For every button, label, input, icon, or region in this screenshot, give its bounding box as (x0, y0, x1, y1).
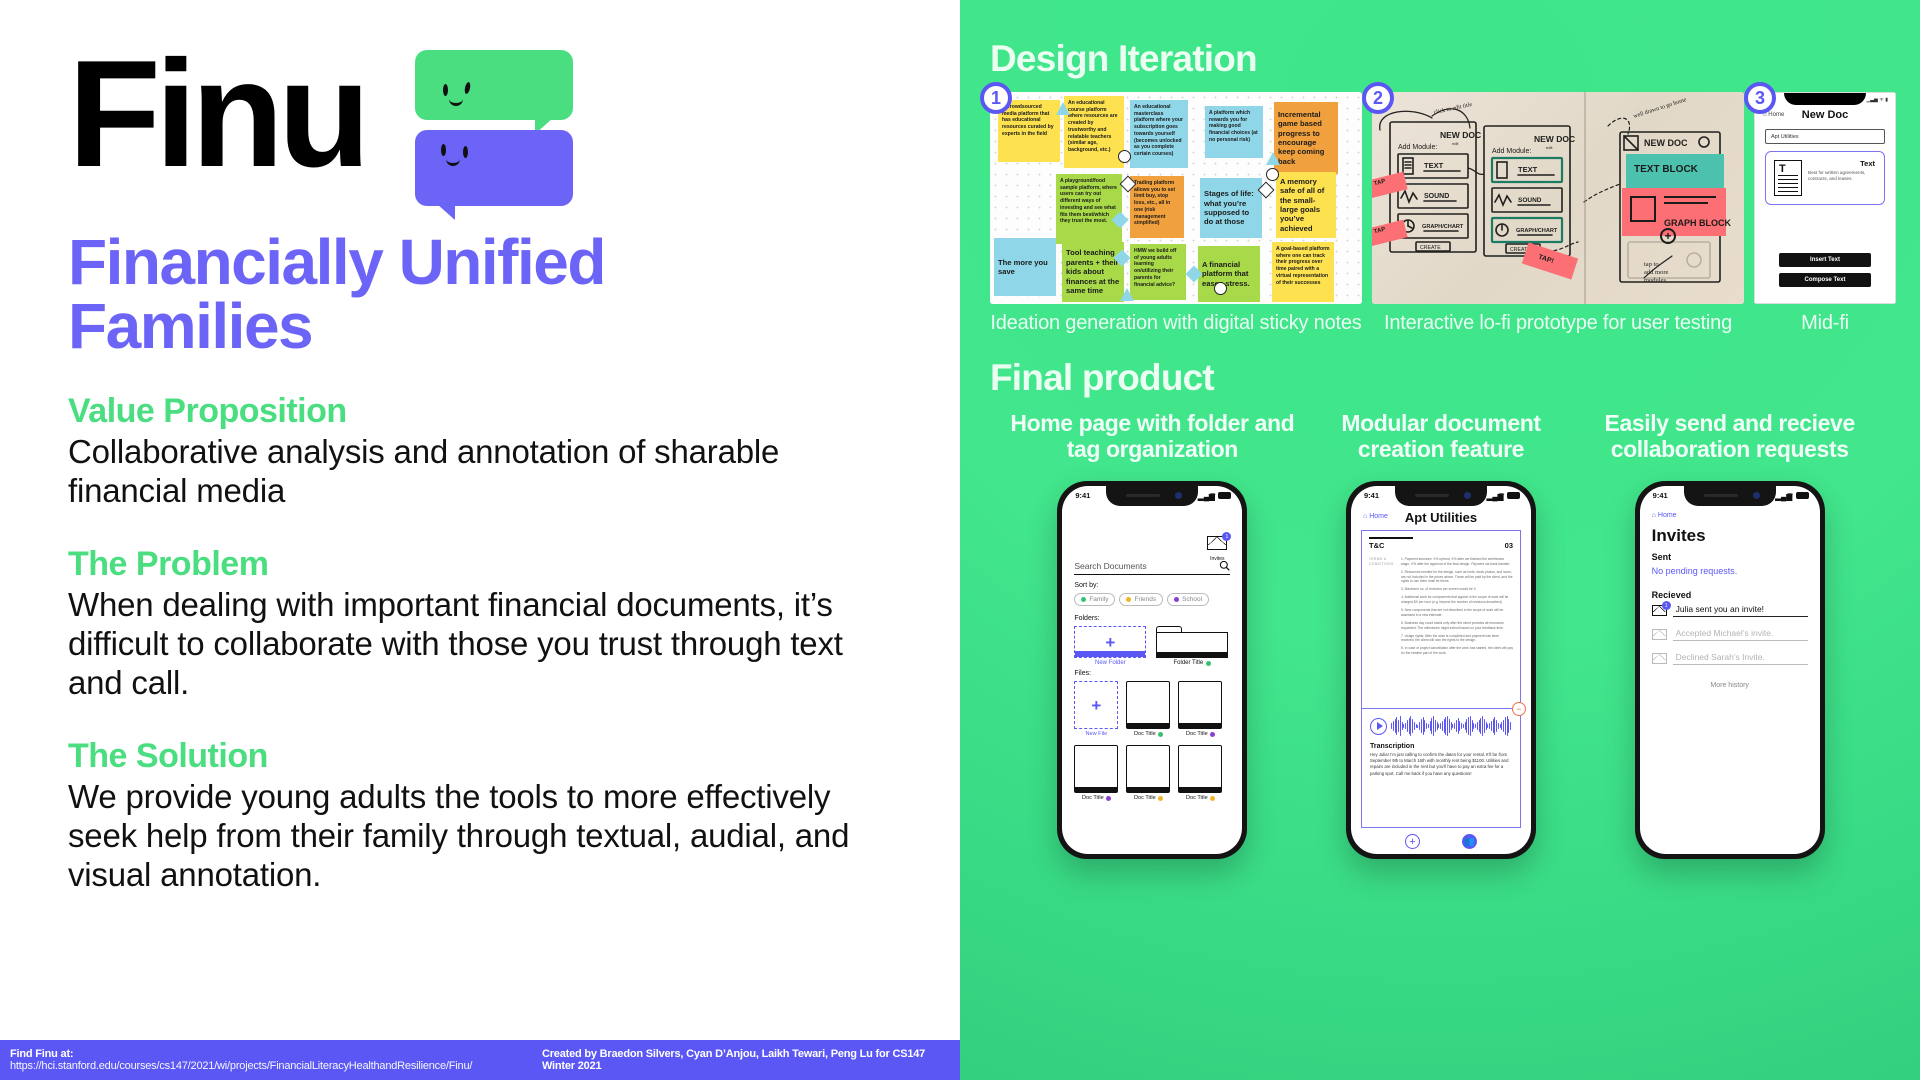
transcription-title: Transcription (1370, 743, 1512, 750)
doc-clause: 8. In case of project cancellation after… (1401, 646, 1513, 655)
status-right-icons: ▂▄▆ ᯤ (1487, 491, 1520, 500)
document-title: Apt Utilities (1351, 510, 1531, 525)
unread-badge: 1 (1662, 601, 1671, 610)
battery-icon (1507, 492, 1520, 499)
graph-block-lines-icon (1664, 196, 1716, 204)
photo-seam (1584, 92, 1586, 304)
phone-screen-home: 9:41 ▂▄▆ ᯤ 1 (1062, 486, 1242, 854)
phone-heading-3: Easily send and recieve collaboration re… (1585, 411, 1874, 467)
tag-label: Family (1089, 596, 1108, 603)
battery-icon (1218, 492, 1231, 499)
poster-root: Finu (0, 0, 1920, 1080)
tag-chip-friends[interactable]: Friends (1119, 593, 1163, 606)
add-module-button[interactable]: + (1405, 834, 1420, 849)
iteration-caption-3: Mid-fi (1754, 312, 1896, 335)
section-body: We provide young adults the tools to mor… (68, 778, 898, 895)
divider (1369, 537, 1413, 539)
svg-text:Add Module:: Add Module: (1492, 148, 1531, 155)
section-heading: Value Proposition (68, 392, 898, 431)
phone-heading-1: Home page with folder and tag organizati… (1008, 411, 1297, 467)
svg-text:edit: edit (1546, 145, 1553, 150)
tag-dot (1158, 732, 1163, 737)
svg-text:tap to: tap to (1644, 261, 1659, 268)
status-time: 9:41 (1364, 491, 1379, 500)
doc-clause: 3. Maximum no. of revisions per screen w… (1401, 587, 1513, 592)
logo-speech-bubbles-icon (415, 50, 585, 215)
wifi-icon: ᯤ (1787, 491, 1793, 500)
received-label: Recieved (1652, 590, 1692, 600)
status-time: 9:41 (1075, 491, 1090, 500)
iteration-item-3: 3 ▁▃▅ ᯤ ▮ ⌂ Home New Doc Apt Utilities T (1754, 92, 1896, 335)
search-icon (1219, 560, 1230, 571)
step-badge-2: 2 (1362, 82, 1394, 114)
invite-row[interactable]: 1 Julia sent you an invite! (1652, 604, 1808, 617)
tag-chip-family[interactable]: Family (1074, 593, 1115, 606)
transcription-body: Hey Julia! I’m just calling to confirm t… (1370, 752, 1512, 777)
footer-bar: Find Finu at: https://hci.stanford.edu/c… (0, 1040, 960, 1080)
sticky-note[interactable]: A financial platform that eases stress. (1198, 246, 1260, 302)
text-document-icon: T (1774, 160, 1802, 196)
footer-credit: Created by Braedon Silvers, Cyan D’Anjou… (542, 1048, 960, 1072)
status-icons: ▁▃▅ ᯤ ▮ (1866, 97, 1888, 103)
lofi-prototype-photo: NEW DOC edit NEW DOC edit Add Module: Ad… (1372, 92, 1744, 304)
file-title: Doc Title (1134, 795, 1156, 801)
signal-icon: ▂▄▆ (1775, 492, 1784, 499)
svg-text:add more: add more (1644, 269, 1668, 276)
tag-dot (1210, 732, 1215, 737)
file-tile[interactable] (1178, 681, 1222, 729)
doc-clauses: 1. Payment structure: X% upfront, X% aft… (1401, 557, 1513, 659)
midfi-shot[interactable]: ▁▃▅ ᯤ ▮ ⌂ Home New Doc Apt Utilities T T (1754, 92, 1896, 304)
phone-column-home: Home page with folder and tag organizati… (1008, 411, 1297, 859)
file-caption: Doc Title (1126, 731, 1170, 737)
svg-text:GRAPH/CHART: GRAPH/CHART (1516, 228, 1558, 234)
phone-notch (1684, 486, 1776, 506)
section-the-problem: The Problem When dealing with important … (68, 545, 898, 703)
wifi-icon: ᯤ (1498, 491, 1504, 500)
phone-screen-invites: 9:41 ▂▄▆ ᯤ ⌂Home Invites Sent No (1640, 486, 1820, 854)
section-body: Collaborative analysis and annotation of… (68, 433, 898, 511)
midfi-doc-name-input[interactable]: Apt Utilities (1765, 129, 1885, 144)
sort-by-label: Sort by: (1074, 582, 1098, 589)
status-right-icons: ▂▄▆ ᯤ (1198, 491, 1231, 500)
right-panel: Design Iteration 1 A crowdsourced media … (960, 0, 1920, 1080)
home-link[interactable]: ⌂Home (1652, 512, 1677, 519)
add-module-plus-icon: + (1660, 228, 1676, 244)
more-history-link[interactable]: More history (1640, 682, 1820, 689)
phone-heading-2: Modular document creation feature (1297, 411, 1586, 467)
sticky-note[interactable]: Stages of life: what you’re supposed to … (1200, 178, 1262, 238)
doc-section-header: T&C 03 (1369, 541, 1513, 550)
left-panel: Finu (0, 0, 960, 1080)
file-title: Doc Title (1186, 731, 1208, 737)
svg-text:modules: modules (1644, 277, 1666, 284)
footer-find-text: Find Finu at: https://hci.stanford.edu/c… (0, 1048, 506, 1072)
tag-dot (1081, 597, 1086, 602)
document-bottom-bar: + 👥 (1351, 834, 1531, 849)
audio-waveform[interactable] (1391, 716, 1512, 736)
svg-text:well drawn to go home: well drawn to go home (1633, 97, 1688, 120)
invites-button[interactable]: 1 Invites (1206, 536, 1228, 562)
step-badge-1: 1 (980, 82, 1012, 114)
file-caption: Doc Title (1178, 731, 1222, 737)
phone-notch (1395, 486, 1487, 506)
signal-icon: ▂▄▆ (1487, 492, 1496, 499)
sticky-shape-icon (1120, 288, 1134, 301)
logo-row: Finu (68, 42, 960, 212)
svg-text:click to edit title: click to edit title (1433, 102, 1473, 116)
doc-clause: 5. New components that are not described… (1401, 608, 1513, 617)
sticky-shape-icon (1214, 282, 1227, 295)
logo-wordmark: Finu (68, 42, 365, 186)
iteration-item-1: 1 A crowdsourced media platform that has… (990, 92, 1362, 335)
file-tile[interactable] (1074, 745, 1118, 793)
status-right-icons: ▂▄▆ ᯤ (1775, 491, 1808, 500)
signal-icon: ▂▄▆ (1198, 492, 1207, 499)
invite-row[interactable]: Declined Sarah’s Invite. (1652, 652, 1808, 665)
phone-notch (1784, 93, 1866, 105)
invite-text: Declined Sarah’s Invite. (1673, 652, 1808, 665)
svg-text:NEW DOC: NEW DOC (1644, 138, 1688, 148)
insert-text-button[interactable]: Insert Text (1779, 253, 1871, 267)
iteration-caption-2: Interactive lo-fi prototype for user tes… (1372, 312, 1744, 335)
section-the-solution: The Solution We provide young adults the… (68, 737, 898, 895)
page-number: 03 (1505, 541, 1513, 550)
folder-title-caption: Folder Title (1156, 660, 1228, 666)
phone-column-invites: Easily send and recieve collaboration re… (1585, 411, 1874, 859)
phone-screen-document: 9:41 ▂▄▆ ᯤ ⌂Home Apt Utilities (1351, 486, 1531, 854)
envelope-icon (1652, 653, 1667, 664)
invites-page-title: Invites (1652, 526, 1706, 546)
envelope-icon (1652, 629, 1667, 640)
folders-section: Folders: + New Folder (1074, 615, 1230, 666)
sticky-note[interactable]: Incremental game based progress to encou… (1274, 102, 1338, 174)
collaborators-button[interactable]: 👥 (1462, 834, 1477, 849)
iteration-row: 1 A crowdsourced media platform that has… (990, 92, 1892, 335)
file-title: Doc Title (1134, 731, 1156, 737)
tag-label: Friends (1134, 596, 1156, 603)
phones-row: Home page with folder and tag organizati… (990, 411, 1892, 859)
step-badge-3: 3 (1744, 82, 1776, 114)
tag-dot (1126, 597, 1131, 602)
phone-home-body: 1 Invites Search Documents (1062, 510, 1242, 854)
compose-text-button[interactable]: Compose Text (1779, 273, 1871, 287)
files-section: Files: + New File Doc Title (1074, 670, 1230, 801)
files-grid-row-2: Doc Title Doc Title Doc Title (1074, 745, 1230, 801)
sticky-text-block-label: TEXT BLOCK (1634, 164, 1698, 175)
doc-clause: 6. Business day count starts only after … (1401, 621, 1513, 630)
doc-clause: 1. Payment structure: X% upfront, X% aft… (1401, 557, 1513, 566)
tag-label: School (1182, 596, 1202, 603)
tag-dot (1210, 796, 1215, 801)
svg-text:Add Module:: Add Module: (1398, 144, 1437, 151)
sticky-note[interactable]: Trading platform allows you to set limit… (1130, 176, 1184, 238)
invite-text: Accepted Michael’s invite. (1673, 628, 1808, 641)
doc-sidebar-label: TERMS & CONDITIONS (1369, 557, 1395, 659)
sent-label: Sent (1652, 552, 1672, 562)
section-body: When dealing with important financial do… (68, 586, 898, 703)
sticky-note[interactable]: HMW we build off of young adults learnin… (1130, 244, 1186, 300)
file-title: Doc Title (1186, 795, 1208, 801)
sticky-shape-icon (1118, 150, 1131, 163)
file-tile[interactable] (1126, 681, 1170, 729)
design-iteration-title: Design Iteration (990, 38, 1892, 80)
doc-clause: 2. Resources needed for the design, such… (1401, 570, 1513, 584)
final-product-title: Final product (990, 357, 1892, 399)
svg-text:TEXT: TEXT (1518, 165, 1538, 174)
file-caption: Doc Title (1126, 795, 1170, 801)
file-tile[interactable] (1178, 745, 1222, 793)
invites-badge: 1 (1222, 532, 1231, 541)
doc-clause: 7. Usage rights: After the work is compl… (1401, 634, 1513, 643)
search-placeholder: Search Documents (1074, 561, 1219, 571)
section-heading: The Problem (68, 545, 898, 584)
svg-text:GRAPH/CHART: GRAPH/CHART (1422, 224, 1464, 230)
tag-dot (1174, 597, 1179, 602)
sticky-shape-icon (1266, 152, 1280, 165)
midfi-card-title: Text (1860, 159, 1875, 168)
invite-text: Julia sent you an invite! (1673, 604, 1808, 617)
sticky-note[interactable]: A playground/food sample platform, where… (1056, 174, 1122, 244)
svg-text:CREATE: CREATE (1420, 245, 1441, 251)
sticky-graph-block-label: GRAPH BLOCK (1664, 218, 1731, 228)
tag-dot (1106, 796, 1111, 801)
sticky-note[interactable]: An educational masterclass platform wher… (1130, 100, 1188, 168)
midfi-title: New Doc (1755, 109, 1895, 121)
svg-text:NEW DOC: NEW DOC (1534, 134, 1575, 144)
sticky-note-board: A crowdsourced media platform that has e… (990, 92, 1362, 304)
remove-module-button[interactable]: − (1512, 702, 1526, 716)
phone-mockup-invites: 9:41 ▂▄▆ ᯤ ⌂Home Invites Sent No (1635, 481, 1825, 859)
phone-mockup-home: 9:41 ▂▄▆ ᯤ 1 (1057, 481, 1247, 859)
sticky-note[interactable]: A memory safe of all of the small-large … (1276, 172, 1336, 238)
tag-filter-row: FamilyFriendsSchool (1074, 593, 1242, 606)
battery-icon (1796, 492, 1809, 499)
sticky-note[interactable]: Tool teaching parents + their kids about… (1062, 242, 1124, 302)
sticky-shape-icon (1056, 102, 1070, 115)
green-bubble-icon (415, 50, 573, 120)
files-label: Files: (1074, 670, 1230, 677)
folders-label: Folders: (1074, 615, 1230, 622)
sticky-note[interactable]: An educational course platform where res… (1064, 96, 1124, 168)
file-caption: Doc Title (1178, 795, 1222, 801)
audio-module-card[interactable]: − Transcription Hey Julia! I’m just call… (1361, 708, 1521, 828)
doc-clause: 4. Additional work for components that a… (1401, 595, 1513, 604)
new-folder-button[interactable]: + (1074, 626, 1146, 658)
tag-chip-school[interactable]: School (1167, 593, 1209, 606)
sticky-note[interactable]: The more you save (994, 238, 1056, 296)
sticky-note[interactable]: A goal-based platform where one can trac… (1272, 242, 1334, 302)
midfi-phone-screen: ▁▃▅ ᯤ ▮ ⌂ Home New Doc Apt Utilities T T (1754, 92, 1896, 304)
iteration-caption-1: Ideation generation with digital sticky … (990, 312, 1362, 335)
sticky-note-board-shot[interactable]: A crowdsourced media platform that has e… (990, 92, 1362, 304)
sticky-shape-icon (1266, 168, 1279, 181)
lofi-photo-shot[interactable]: NEW DOC edit NEW DOC edit Add Module: Ad… (1372, 92, 1744, 304)
doc-body: TERMS & CONDITIONS 1. Payment structure:… (1369, 557, 1513, 659)
footer-url[interactable]: https://hci.stanford.edu/courses/cs147/2… (10, 1060, 472, 1072)
phone-notch (1106, 486, 1198, 506)
iteration-item-2: 2 (1372, 92, 1744, 335)
svg-text:SOUND: SOUND (1518, 197, 1542, 204)
home-icon: ⌂ (1652, 512, 1656, 519)
phone-column-document: Modular document creation feature 9:41 ▂… (1297, 411, 1586, 859)
folder-tile[interactable] (1156, 626, 1228, 658)
file-caption: Doc Title (1074, 795, 1118, 801)
wifi-icon: ᯤ (1209, 491, 1215, 500)
midfi-text-module-card[interactable]: T Text Best for written agreements, cont… (1765, 151, 1885, 205)
new-folder-label: New Folder (1074, 660, 1146, 666)
section-heading: The Solution (68, 737, 898, 776)
new-file-label: New File (1074, 731, 1118, 737)
graph-block-box-icon (1630, 196, 1656, 222)
sticky-note[interactable]: A platform which rewards you for making … (1205, 106, 1263, 158)
tag-dot (1206, 661, 1211, 666)
section-value-proposition: Value Proposition Collaborative analysis… (68, 392, 898, 511)
svg-text:NEW DOC: NEW DOC (1440, 130, 1481, 140)
footer-find-label: Find Finu at: (10, 1048, 73, 1060)
play-button[interactable] (1370, 718, 1387, 735)
sent-empty-text: No pending requests. (1652, 566, 1738, 576)
file-tile[interactable] (1126, 745, 1170, 793)
status-time: 9:41 (1653, 491, 1668, 500)
svg-text:SOUND: SOUND (1424, 193, 1449, 200)
svg-text:edit: edit (1452, 141, 1459, 146)
svg-text:TEXT: TEXT (1424, 161, 1444, 170)
section-code: T&C (1369, 541, 1384, 550)
file-title: Doc Title (1082, 795, 1104, 801)
new-file-button[interactable]: + (1074, 681, 1118, 729)
tagline: Financially Unified Families (68, 230, 708, 358)
plus-icon: + (1091, 697, 1101, 714)
purple-bubble-icon (415, 130, 573, 206)
files-grid-row-1: + New File Doc Title Doc Title (1074, 681, 1230, 737)
tag-dot (1158, 796, 1163, 801)
phone-mockup-document: 9:41 ▂▄▆ ᯤ ⌂Home Apt Utilities (1346, 481, 1536, 859)
search-documents-field[interactable]: Search Documents (1074, 560, 1230, 575)
plus-icon: + (1105, 634, 1115, 651)
midfi-card-desc: Best for written agreements, contracts, … (1808, 170, 1878, 182)
invite-row[interactable]: Accepted Michael’s invite. (1652, 628, 1808, 641)
